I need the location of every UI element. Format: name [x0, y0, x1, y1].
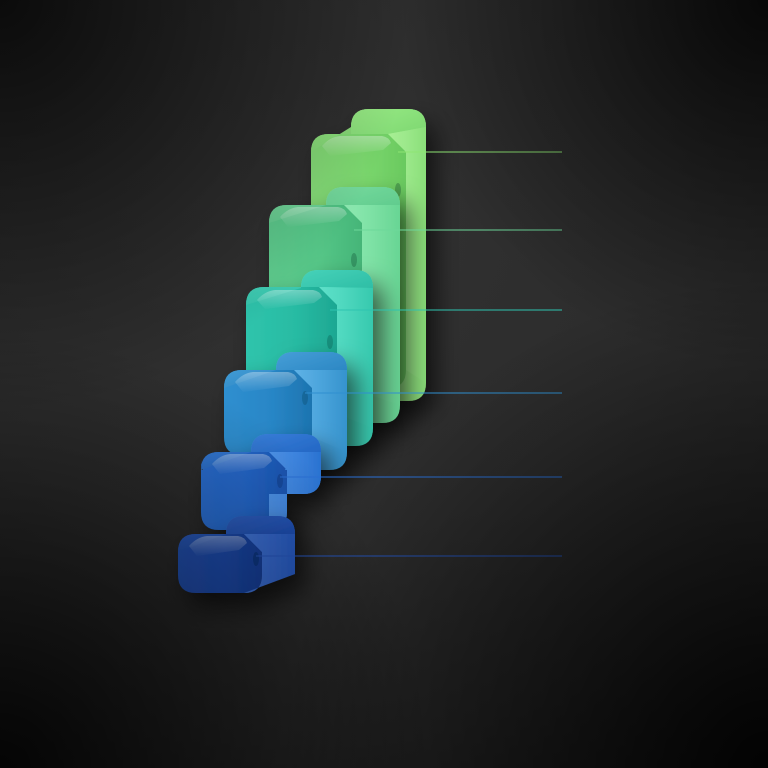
header-block [40, 44, 300, 58]
legend-list [505, 0, 768, 768]
infographic-canvas [0, 0, 768, 768]
footer-block [0, 713, 768, 720]
